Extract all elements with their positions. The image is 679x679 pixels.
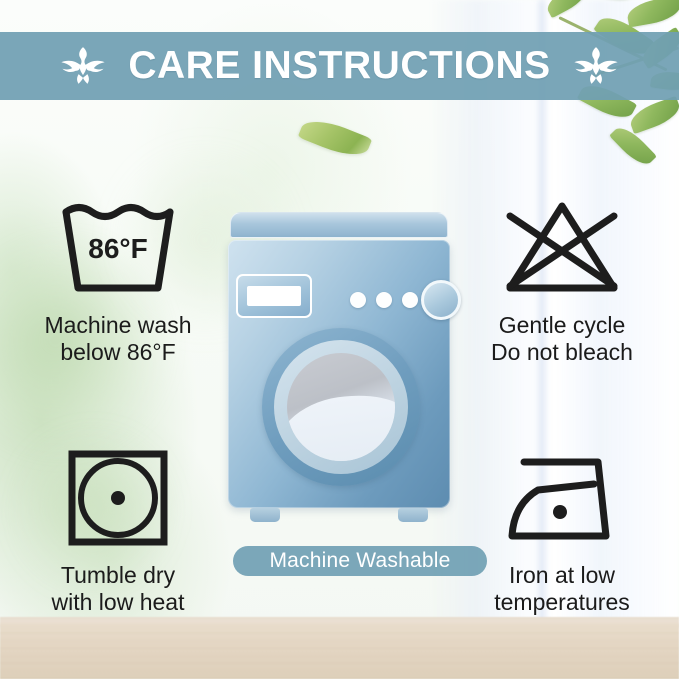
machine-washable-badge: Machine Washable <box>233 546 487 576</box>
care-symbol-do-not-bleach: Gentle cycle Do not bleach <box>452 192 672 365</box>
leaf-icon <box>585 0 639 5</box>
fleur-de-lis-icon <box>56 46 110 86</box>
machine-button <box>376 292 392 308</box>
machine-foot <box>398 508 428 522</box>
machine-display <box>247 286 301 306</box>
machine-body <box>228 240 450 508</box>
header-banner: CARE INSTRUCTIONS <box>0 32 679 100</box>
machine-door-glass <box>287 353 395 461</box>
care-symbol-tumble-dry: Tumble dry with low heat <box>8 442 228 615</box>
page-title: CARE INSTRUCTIONS <box>128 44 550 88</box>
machine-door-outer-ring <box>262 328 420 486</box>
care-symbol-iron: Iron at low temperatures <box>452 442 672 615</box>
leaf-icon <box>625 0 679 28</box>
care-instructions-infographic: CARE INSTRUCTIONS 86°F Machine wash belo… <box>0 0 679 679</box>
iron-icon <box>452 442 672 554</box>
care-symbol-caption: Iron at low temperatures <box>452 562 672 615</box>
background-wood-surface <box>0 617 679 679</box>
care-symbol-machine-wash: 86°F Machine wash below 86°F <box>8 192 228 365</box>
tumble-dry-icon <box>8 442 228 554</box>
machine-button <box>350 292 366 308</box>
leaf-icon <box>627 96 679 134</box>
machine-door-glass-highlight <box>287 388 395 461</box>
washing-machine-illustration <box>228 212 450 534</box>
machine-control-panel <box>236 274 312 318</box>
machine-button <box>402 292 418 308</box>
care-symbol-caption: Tumble dry with low heat <box>8 562 228 615</box>
machine-top-lid <box>230 212 448 238</box>
care-symbol-caption: Gentle cycle Do not bleach <box>452 312 672 365</box>
wash-tub-icon: 86°F <box>8 192 228 304</box>
care-symbol-caption: Machine wash below 86°F <box>8 312 228 365</box>
machine-door-middle-ring <box>274 340 408 474</box>
triangle-crossed-icon <box>452 192 672 304</box>
machine-dial-knob <box>421 280 461 320</box>
fleur-de-lis-icon <box>569 46 623 86</box>
machine-foot <box>250 508 280 522</box>
wash-temperature-label: 86°F <box>88 233 147 264</box>
machine-button-group <box>350 292 418 308</box>
leaf-icon <box>543 0 591 18</box>
badge-label: Machine Washable <box>269 549 450 573</box>
